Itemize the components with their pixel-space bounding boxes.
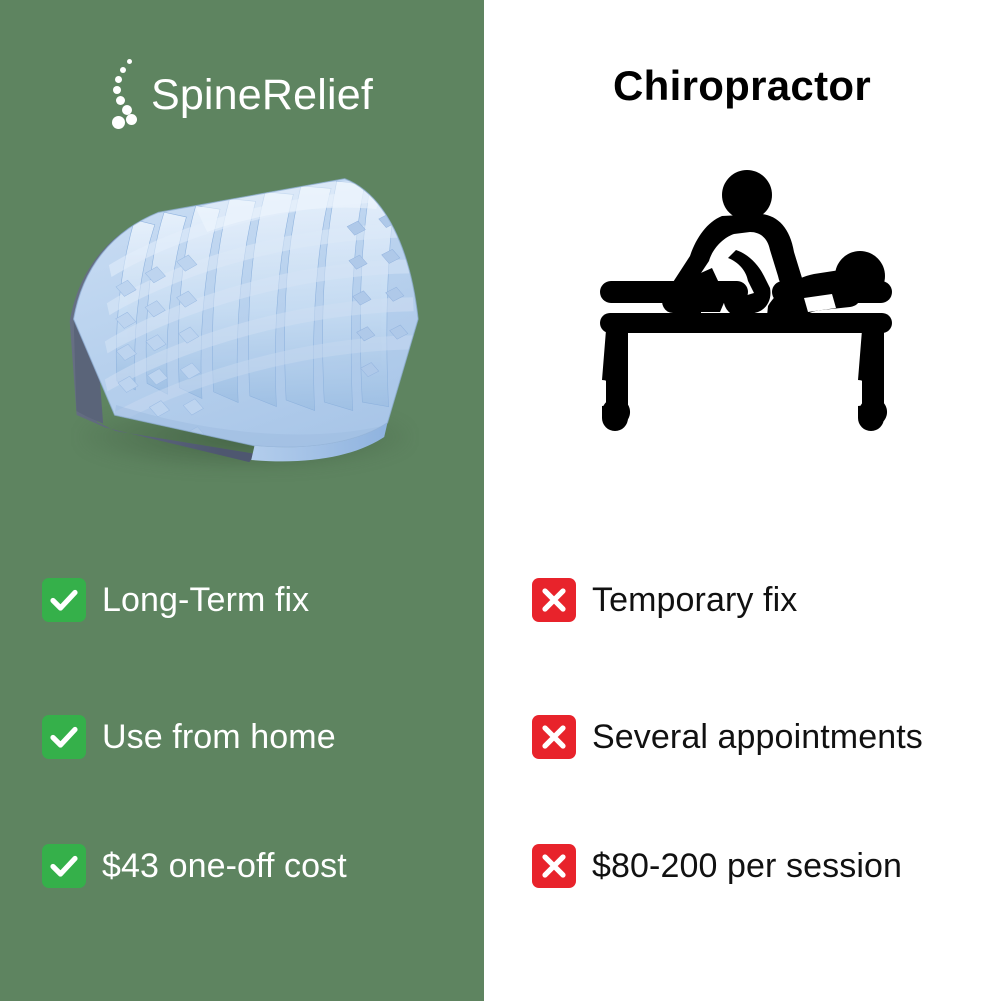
feature-label: Several appointments [592, 718, 923, 757]
cross-icon [532, 715, 576, 759]
feature-row: Long-Term fix [42, 572, 309, 628]
feature-label: Temporary fix [592, 581, 797, 620]
feature-row: $43 one-off cost [42, 838, 347, 894]
cross-icon [532, 578, 576, 622]
chiropractor-massage-table-icon [572, 158, 917, 478]
feature-row: Temporary fix [532, 572, 797, 628]
product-image [52, 162, 442, 482]
feature-label: $43 one-off cost [102, 847, 347, 886]
feature-row: $80-200 per session [532, 838, 902, 894]
feature-label: Use from home [102, 718, 336, 757]
brand-logo: SpineRelief [0, 55, 484, 135]
page-title: Chiropractor [484, 62, 1000, 110]
right-panel-chiropractor: Chiropractor [484, 0, 1000, 1001]
comparison-graphic: SpineRelief [0, 0, 1000, 1001]
chiropractor-illustration [572, 158, 917, 478]
feature-row: Several appointments [532, 709, 923, 765]
spine-dots-icon [111, 59, 145, 131]
brand-name: SpineRelief [151, 71, 373, 120]
check-icon [42, 844, 86, 888]
left-panel-spinerelief: SpineRelief [0, 0, 484, 1001]
feature-label: $80-200 per session [592, 847, 902, 886]
cross-icon [532, 844, 576, 888]
check-icon [42, 715, 86, 759]
back-stretcher-illustration [44, 152, 450, 492]
check-icon [42, 578, 86, 622]
feature-row: Use from home [42, 709, 336, 765]
feature-label: Long-Term fix [102, 581, 309, 620]
